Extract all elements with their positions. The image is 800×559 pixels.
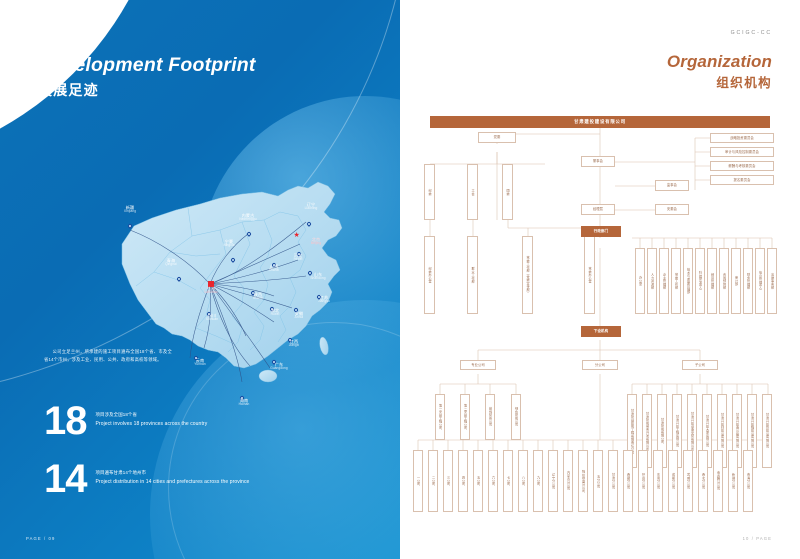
org-node-dept-11[interactable]: 法律事务部 (767, 248, 777, 314)
org-node-branch-8[interactable]: 九公司 (533, 450, 543, 512)
org-node-branch-17[interactable]: 成都分公司 (668, 450, 678, 512)
org-node-management[interactable]: 经理层 (581, 204, 615, 215)
org-node-pro-1[interactable]: 第二安装工程公司 (460, 394, 470, 440)
logo-name-en: CONSTRUCTION CO., LTD. BUILDING (45, 35, 99, 38)
org-node-pro-0[interactable]: 第一安装工程公司 (435, 394, 445, 440)
stat-number: 18 (44, 405, 87, 438)
org-node-dept-9[interactable]: 财务管理部 (743, 248, 753, 314)
org-node-branch-16[interactable]: 东南分公司 (653, 450, 663, 512)
org-node-branch-18[interactable]: 武威分公司 (683, 450, 693, 512)
org-node-discipline[interactable]: 纪委 (424, 164, 435, 220)
org-node-pro-2[interactable]: 装饰装修公司 (485, 394, 495, 440)
left-page: 甘肃建投建设有限公司 CONSTRUCTION CO., LTD. BUILDI… (0, 0, 400, 559)
org-node-branch-22[interactable]: 青海分公司 (743, 450, 753, 512)
stat-label-cn: 项目涉及全国18个省 (96, 413, 208, 417)
org-node-committee-compensation[interactable]: 薪酬与考核委员会 (710, 161, 774, 171)
org-node-company[interactable]: 甘肃建投建设有限公司 (430, 116, 770, 128)
org-node-party-work-dept[interactable]: 党委工作部（党委宣传部） (522, 236, 533, 314)
intro-paragraph: 公司立足兰州，所承建的施工项目遍布全国18个省、市及全省14个市州，涉及工业、民… (44, 348, 172, 365)
page-title-en: Development Footprint (38, 56, 256, 76)
org-node-branch-6[interactable]: 七公司 (503, 450, 513, 512)
china-map: ★ 新疆 Xinjiang 内蒙古 Neimenggu 辽宁 Liaoning … (92, 160, 392, 410)
org-node-branch-15[interactable]: 环县分公司 (638, 450, 648, 512)
org-node-branch-3[interactable]: 四公司 (458, 450, 468, 512)
org-title-en: Organization (667, 53, 772, 70)
page-title-cn: 发展足迹 (38, 83, 256, 97)
org-title: Organization 组织机构 (667, 53, 772, 90)
right-page-number: 10 / PAGE (743, 536, 772, 541)
logo-text: 甘肃建投建设有限公司 CONSTRUCTION CO., LTD. BUILDI… (45, 29, 99, 38)
logo-name-cn: 甘肃建投建设有限公司 (45, 29, 99, 34)
org-node-branch-19[interactable]: 西北分公司 (698, 450, 708, 512)
org-node-party[interactable]: 党委 (478, 132, 516, 143)
page-title: Development Footprint 发展足迹 (38, 56, 256, 97)
org-node-branch-9[interactable]: 辽宁分公司 (548, 450, 558, 512)
org-node-union[interactable]: 工会 (467, 164, 478, 220)
map-graphic (92, 160, 392, 410)
stat-text: 项目遍布甘肃14个地州市 Project distribution in 14 … (96, 463, 250, 486)
org-node-branch-11[interactable]: 锦州鼎盛分公司 (578, 450, 588, 512)
company-logo: 甘肃建投建设有限公司 CONSTRUCTION CO., LTD. BUILDI… (26, 26, 99, 41)
org-node-safety-committee[interactable]: 安委会 (655, 204, 689, 215)
org-node-dept-0[interactable]: 办公室 (635, 248, 645, 314)
document-code: GCIGC-CC (731, 30, 772, 36)
stat-label-en: Project involves 18 provinces across the… (96, 421, 208, 428)
org-node-branch-20[interactable]: 会鑫腾分公司 (713, 450, 723, 512)
left-page-number: PAGE / 09 (26, 536, 55, 541)
org-node-dept-1[interactable]: 人力资源部 (647, 248, 657, 314)
org-node-branch-21[interactable]: 新疆分公司 (728, 450, 738, 512)
org-node-youth-league[interactable]: 团委 (502, 164, 513, 220)
org-node-party-office[interactable]: 党委办公室 (584, 236, 595, 314)
org-chart: 甘肃建投建设有限公司 党委 纪委 工会 团委 纪委办公室 群众工作部 (400, 108, 800, 520)
stat-cities: 14 项目遍布甘肃14个地州市 Project distribution in … (44, 463, 249, 496)
org-node-dept-2[interactable]: 企业管理部 (659, 248, 669, 314)
org-title-cn: 组织机构 (667, 77, 772, 90)
org-node-branch-10[interactable]: 内蒙古分公司 (563, 450, 573, 512)
stat-number: 14 (44, 463, 87, 496)
logo-emblem-icon (26, 26, 41, 41)
org-node-committee-nomination[interactable]: 提名委员会 (710, 175, 774, 185)
org-node-pro-3[interactable]: 绿色建筑公司 (511, 394, 521, 440)
org-node-dept-8[interactable]: 审计部 (731, 248, 741, 314)
map-marker-lanzhou (208, 281, 214, 287)
org-node-sub-9[interactable]: 甘肃兴建管建设有限公司 (762, 394, 772, 468)
org-node-branch-13[interactable]: 甘肃分公司 (608, 450, 618, 512)
org-node-branch-0[interactable]: 一公司 (413, 450, 423, 512)
org-node-branch-12[interactable]: 五分公司 (593, 450, 603, 512)
stat-label-cn: 项目遍布甘肃14个地州市 (96, 471, 250, 475)
org-node-group-professional[interactable]: 专业公司 (460, 360, 496, 370)
stat-text: 项目涉及全国18个省 Project involves 18 provinces… (96, 405, 208, 428)
org-node-branch-7[interactable]: 八公司 (518, 450, 528, 512)
right-page: GCIGC-CC Organization 组织机构 (400, 0, 800, 559)
org-node-dept-7[interactable]: 合同预算部 (719, 248, 729, 314)
org-node-dept-10[interactable]: 信息管理中心 (755, 248, 765, 314)
org-node-branch-14[interactable]: 西藏分公司 (623, 450, 633, 512)
org-node-group-subsidiary[interactable]: 子公司 (682, 360, 718, 370)
org-node-branch-2[interactable]: 三公司 (443, 450, 453, 512)
org-node-committee-strategy[interactable]: 战略投资委员会 (710, 133, 774, 143)
org-node-dept-6[interactable]: 经营管理部 (707, 248, 717, 314)
org-node-board[interactable]: 董事会 (581, 156, 615, 167)
stat-provinces: 18 项目涉及全国18个省 Project involves 18 provin… (44, 405, 207, 438)
brochure-spread: 甘肃建投建设有限公司 CONSTRUCTION CO., LTD. BUILDI… (0, 0, 800, 559)
org-node-branch-5[interactable]: 六公司 (488, 450, 498, 512)
org-node-committee-audit[interactable]: 审计与风险控制委员会 (710, 147, 774, 157)
org-node-dept-4[interactable]: 技术与质量管理部 (683, 248, 693, 314)
org-node-dept-5[interactable]: 科技研发中心 (695, 248, 705, 314)
org-node-branch-1[interactable]: 二公司 (428, 450, 438, 512)
org-node-subordinate[interactable]: 下设机构 (581, 326, 621, 337)
org-node-group-branch[interactable]: 分公司 (582, 360, 618, 370)
org-node-branch-4[interactable]: 五公司 (473, 450, 483, 512)
org-node-dept-3[interactable]: 党委工作部 (671, 248, 681, 314)
org-node-supervisors[interactable]: 监事会 (655, 180, 689, 191)
org-node-discipline-office[interactable]: 纪委办公室 (424, 236, 435, 314)
org-node-functional-dept[interactable]: 行政部门 (581, 226, 621, 237)
stat-label-en: Project distribution in 14 cities and pr… (96, 479, 250, 486)
org-node-mass-work-dept[interactable]: 群众工作部 (467, 236, 478, 314)
